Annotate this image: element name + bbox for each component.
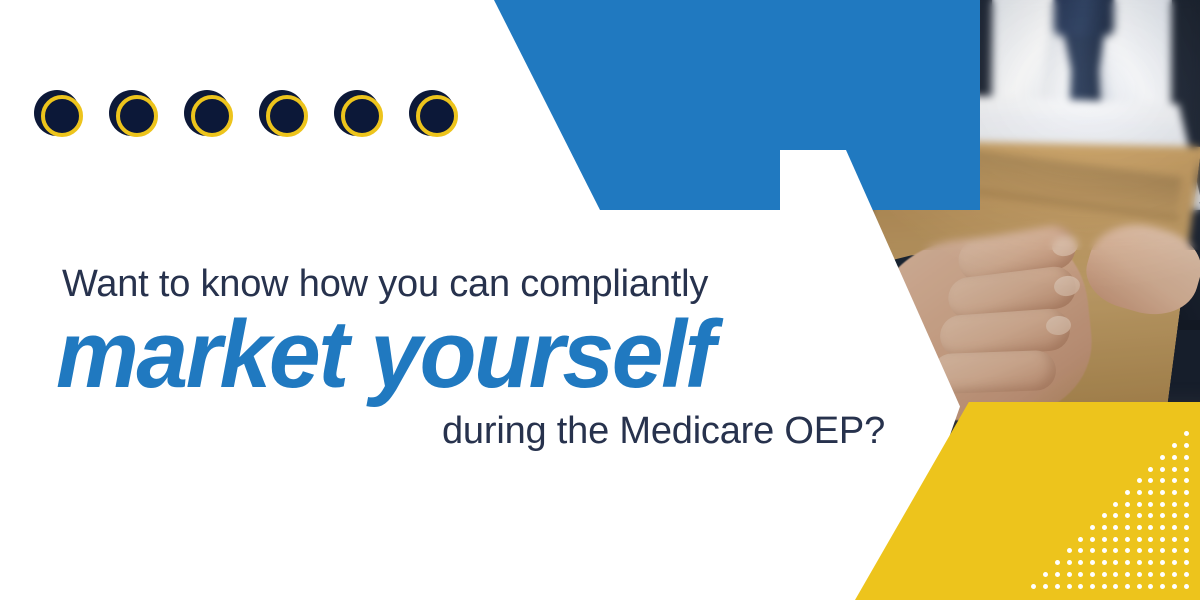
grid-dot <box>1125 572 1130 577</box>
grid-dot <box>1172 548 1177 553</box>
grid-dot <box>1172 572 1177 577</box>
grid-dot <box>1184 431 1189 436</box>
grid-dot <box>1043 572 1048 577</box>
grid-dot <box>1113 572 1118 577</box>
grid-dot <box>1184 560 1189 565</box>
grid-dot <box>1113 502 1118 507</box>
grid-dot <box>1043 584 1048 589</box>
grid-dot <box>1148 502 1153 507</box>
circle-ring-icon <box>416 95 458 137</box>
grid-dot <box>1172 455 1177 460</box>
decorative-circle-row <box>34 88 457 144</box>
grid-dot <box>1160 478 1165 483</box>
grid-dot <box>1172 443 1177 448</box>
grid-dot <box>1078 584 1083 589</box>
grid-dot <box>1090 560 1095 565</box>
grid-dot <box>1067 584 1072 589</box>
grid-dot <box>1172 537 1177 542</box>
grid-dot <box>1148 560 1153 565</box>
grid-dot <box>1090 525 1095 530</box>
grid-dot <box>1137 572 1142 577</box>
grid-dot <box>1067 548 1072 553</box>
circle-ring-icon <box>116 95 158 137</box>
grid-dot <box>1160 513 1165 518</box>
grid-dot <box>1078 572 1083 577</box>
grid-dot <box>1137 525 1142 530</box>
grid-dot <box>1102 584 1107 589</box>
grid-dot <box>1160 525 1165 530</box>
grid-dot <box>1078 560 1083 565</box>
circle-ring-icon <box>266 95 308 137</box>
grid-dot <box>1102 525 1107 530</box>
grid-dot <box>1137 560 1142 565</box>
grid-dot <box>1172 513 1177 518</box>
grid-dot <box>1137 490 1142 495</box>
grid-dot <box>1067 572 1072 577</box>
grid-dot <box>1102 548 1107 553</box>
grid-dot <box>1078 548 1083 553</box>
grid-dot <box>1055 560 1060 565</box>
grid-dot <box>1102 572 1107 577</box>
headline-line-bottom: during the Medicare OEP? <box>442 409 900 454</box>
grid-dot <box>1137 537 1142 542</box>
circle-ring-icon <box>341 95 383 137</box>
grid-dot <box>1125 502 1130 507</box>
grid-dot <box>1184 584 1189 589</box>
grid-dot <box>1172 467 1177 472</box>
circle-ring-icon <box>41 95 83 137</box>
grid-dot <box>1102 513 1107 518</box>
grid-dot <box>1055 572 1060 577</box>
grid-dot <box>1172 490 1177 495</box>
grid-dot <box>1160 572 1165 577</box>
grid-dot <box>1148 490 1153 495</box>
grid-dot <box>1137 513 1142 518</box>
grid-dot <box>1160 537 1165 542</box>
grid-dot <box>1113 584 1118 589</box>
grid-dot <box>1148 478 1153 483</box>
grid-dot <box>1184 478 1189 483</box>
grid-dot <box>1160 455 1165 460</box>
grid-dot <box>1184 513 1189 518</box>
decorative-circle-3 <box>184 88 232 144</box>
circle-ring-icon <box>191 95 233 137</box>
decorative-circle-2 <box>109 88 157 144</box>
grid-dot <box>1184 502 1189 507</box>
headline-block: Want to know how you can compliantly mar… <box>0 262 900 453</box>
grid-dot <box>1137 548 1142 553</box>
grid-dot <box>1102 537 1107 542</box>
grid-dot <box>1031 584 1036 589</box>
grid-dot <box>1078 537 1083 542</box>
grid-dot <box>1184 443 1189 448</box>
marketing-banner: Want to know how you can compliantly mar… <box>0 0 1200 600</box>
grid-dot <box>1148 584 1153 589</box>
grid-dot <box>1184 490 1189 495</box>
grid-dot <box>1184 455 1189 460</box>
grid-dot <box>1172 525 1177 530</box>
grid-dot <box>1113 537 1118 542</box>
grid-dot <box>1102 560 1107 565</box>
grid-dot <box>1113 525 1118 530</box>
grid-dot <box>1160 490 1165 495</box>
grid-dot <box>1160 548 1165 553</box>
dot-grid-pattern <box>1010 414 1200 600</box>
grid-dot <box>1113 560 1118 565</box>
decorative-circle-6 <box>409 88 457 144</box>
grid-dot <box>1184 548 1189 553</box>
grid-dot <box>1137 584 1142 589</box>
grid-dot <box>1148 513 1153 518</box>
grid-dot <box>1125 584 1130 589</box>
grid-dot <box>1160 584 1165 589</box>
grid-dot <box>1055 584 1060 589</box>
grid-dot <box>1125 560 1130 565</box>
grid-dot <box>1125 548 1130 553</box>
grid-dot <box>1125 537 1130 542</box>
grid-dot <box>1184 572 1189 577</box>
grid-dot <box>1148 467 1153 472</box>
grid-dot <box>1160 502 1165 507</box>
grid-dot <box>1090 548 1095 553</box>
decorative-circle-1 <box>34 88 82 144</box>
grid-dot <box>1090 537 1095 542</box>
grid-dot <box>1160 467 1165 472</box>
grid-dot <box>1172 560 1177 565</box>
grid-dot <box>1148 525 1153 530</box>
grid-dot <box>1148 548 1153 553</box>
grid-dot <box>1090 572 1095 577</box>
grid-dot <box>1172 502 1177 507</box>
grid-dot <box>1090 584 1095 589</box>
grid-dot <box>1125 525 1130 530</box>
grid-dot <box>1113 548 1118 553</box>
grid-dot <box>1067 560 1072 565</box>
grid-dot <box>1184 467 1189 472</box>
grid-dot <box>1148 572 1153 577</box>
grid-dot <box>1113 513 1118 518</box>
grid-dot <box>1184 525 1189 530</box>
grid-dot <box>1148 537 1153 542</box>
grid-dot <box>1137 502 1142 507</box>
grid-dot <box>1160 560 1165 565</box>
blue-trapezoid-shape <box>480 0 980 210</box>
headline-line-main: market yourself <box>56 303 875 407</box>
grid-dot <box>1184 537 1189 542</box>
decorative-circle-4 <box>259 88 307 144</box>
grid-dot <box>1125 490 1130 495</box>
necktie-knot-icon <box>1054 0 1114 36</box>
grid-dot <box>1125 513 1130 518</box>
decorative-circle-5 <box>334 88 382 144</box>
grid-dot <box>1137 478 1142 483</box>
grid-dot <box>1172 584 1177 589</box>
grid-dot <box>1172 478 1177 483</box>
